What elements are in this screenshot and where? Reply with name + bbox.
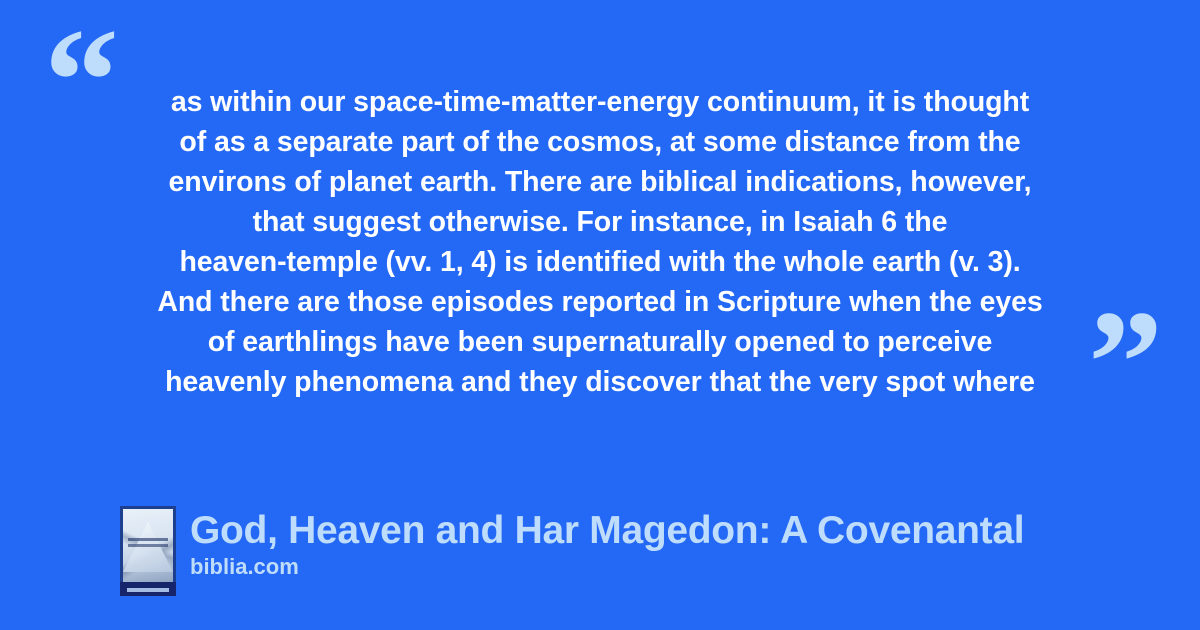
book-cover-thumbnail [120, 506, 176, 596]
quote-card: “ as within our space-time-matter-energy… [0, 0, 1200, 630]
quote-line: that suggest otherwise. For instance, in… [118, 202, 1082, 242]
quote-line: of as a separate part of the cosmos, at … [118, 122, 1082, 162]
quote-text: as within our space-time-matter-energy c… [118, 82, 1082, 402]
cover-title-lines [128, 536, 168, 550]
book-title: God, Heaven and Har Magedon: A Covenanta… [190, 508, 1024, 554]
source-attribution: God, Heaven and Har Magedon: A Covenanta… [120, 506, 1024, 596]
site-name: biblia.com [190, 553, 1024, 581]
open-quote-icon: “ [44, 6, 119, 156]
quote-line: heaven-temple (vv. 1, 4) is identified w… [118, 242, 1082, 282]
quote-line: as within our space-time-matter-energy c… [118, 82, 1082, 122]
quote-line: of earthlings have been supernaturally o… [118, 322, 1082, 362]
cover-author-text [127, 588, 169, 592]
quote-line: environs of planet earth. There are bibl… [118, 162, 1082, 202]
cover-author-band [120, 582, 176, 596]
quote-block: “ as within our space-time-matter-energy… [0, 0, 1200, 430]
quote-line: And there are those episodes reported in… [118, 282, 1082, 322]
close-quote-icon: ” [1088, 288, 1163, 438]
source-text: God, Heaven and Har Magedon: A Covenanta… [190, 506, 1024, 581]
quote-line: heavenly phenomena and they discover tha… [118, 362, 1082, 402]
